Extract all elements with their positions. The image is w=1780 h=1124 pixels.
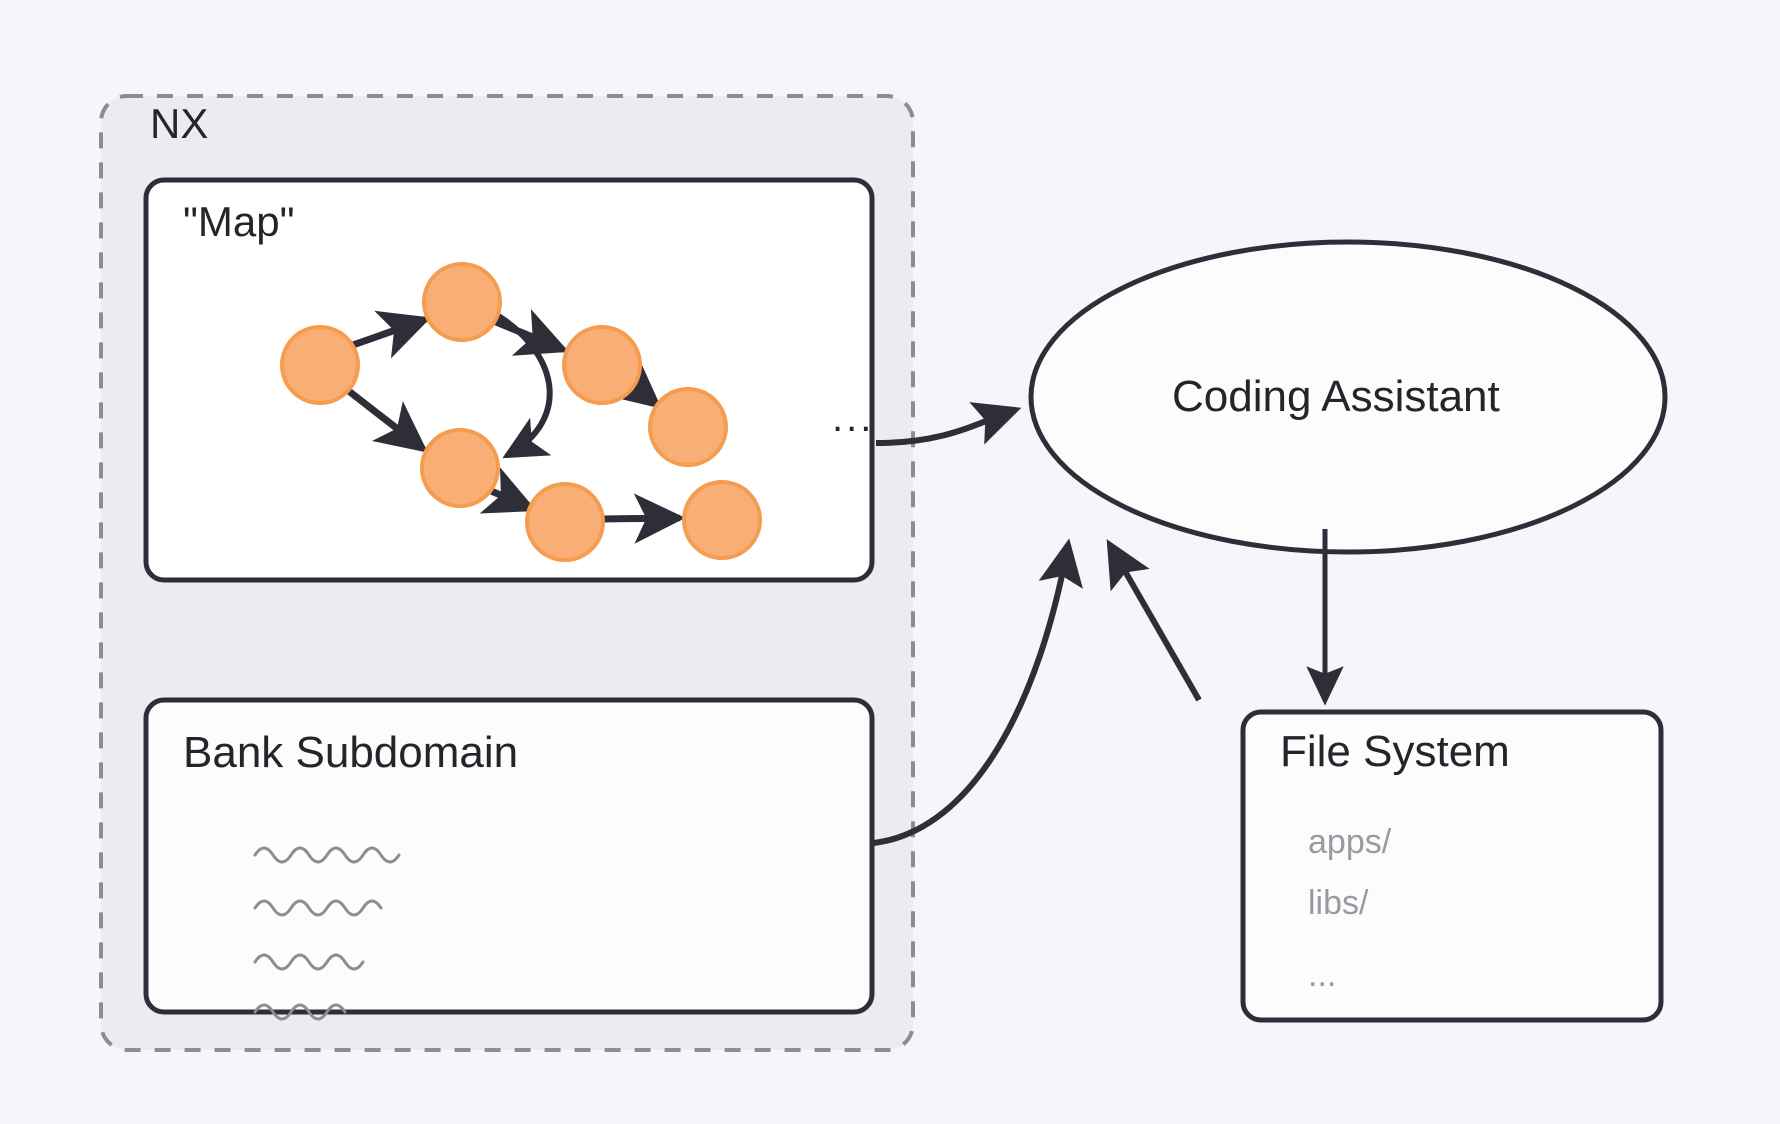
coding-assistant-node[interactable] [1031,242,1665,552]
diagram-canvas: NX "Map" ... Bank Subdomain Coding Assis… [0,0,1780,1124]
graph-node-n1[interactable] [282,327,358,403]
graph-node-n3[interactable] [564,327,640,403]
graph-node-n4[interactable] [422,430,498,506]
graph-node-n5[interactable] [650,389,726,465]
file-system-node[interactable] [1243,712,1661,1020]
diagram-vector-layer [0,0,1780,1124]
edge-n6-n7 [602,518,678,519]
map-graph-ellipsis: ... [832,410,874,426]
file-system-item-libs: libs/ [1308,884,1368,923]
graph-node-n2[interactable] [424,264,500,340]
graph-node-n7[interactable] [684,482,760,558]
connector-external-to-coding-assistant [1110,545,1199,700]
file-system-item-ellipsis: ... [1308,956,1336,995]
graph-node-n6[interactable] [527,484,603,560]
map-panel [146,180,872,580]
file-system-item-apps: apps/ [1308,823,1391,862]
